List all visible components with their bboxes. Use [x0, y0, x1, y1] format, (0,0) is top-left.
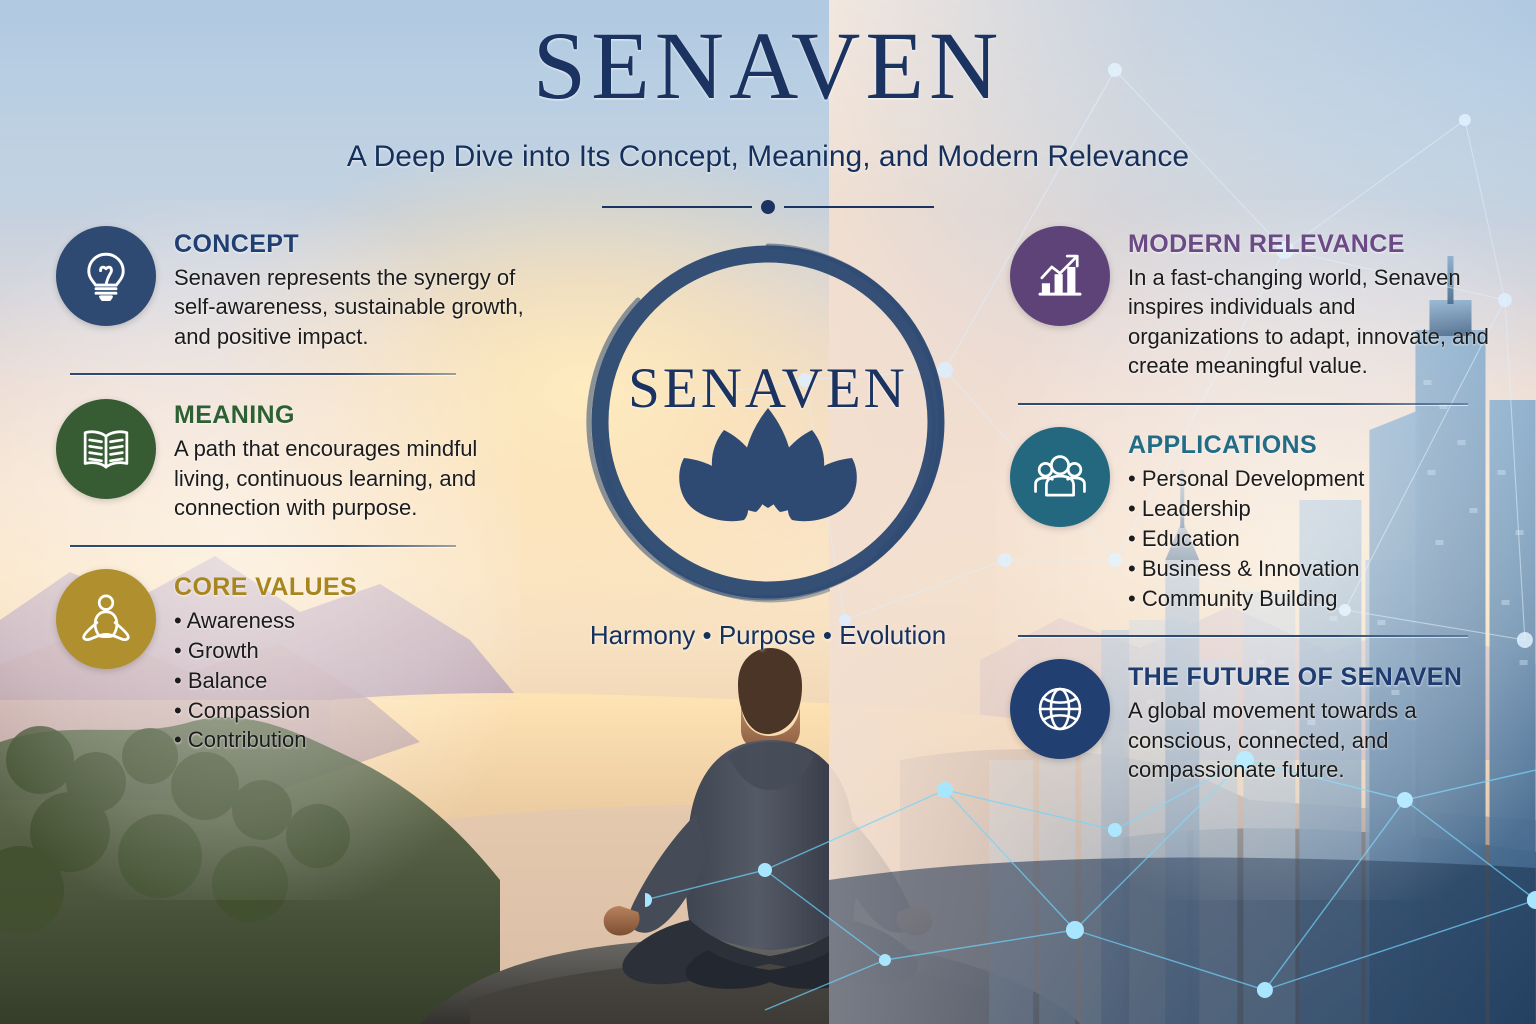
divider-line-right [784, 206, 934, 208]
page-title: SENAVEN [0, 16, 1536, 117]
list-item: Leadership [1128, 494, 1490, 524]
growth-chart-icon-circle [1010, 226, 1110, 326]
globe-icon [1031, 680, 1089, 738]
brand-emblem: SENAVEN Harmony • Purpose • Evolution [568, 232, 968, 651]
divider-line-left [602, 206, 752, 208]
divider-dot [761, 200, 775, 214]
left-divider-1 [70, 373, 456, 375]
applications-heading: APPLICATIONS [1128, 431, 1490, 460]
list-item: Personal Development [1128, 464, 1490, 494]
meditation-icon-circle [56, 569, 156, 669]
list-item: Contribution [174, 725, 526, 755]
section-core-values[interactable]: CORE VALUES AwarenessGrowthBalanceCompas… [56, 569, 526, 756]
right-column: MODERN RELEVANCE In a fast-changing worl… [1010, 226, 1490, 785]
future-body: A global movement towards a conscious, c… [1128, 696, 1490, 784]
concept-heading: CONCEPT [174, 230, 526, 259]
section-meaning[interactable]: MEANING A path that encourages mindful l… [56, 397, 526, 522]
right-divider-2 [1018, 635, 1468, 637]
list-item: Growth [174, 636, 526, 666]
open-book-icon-circle [56, 399, 156, 499]
emblem-tagline: Harmony • Purpose • Evolution [568, 620, 968, 651]
modern-relevance-body: In a fast-changing world, Senaven inspir… [1128, 263, 1490, 381]
lotus-icon [679, 408, 857, 521]
poster-content: SENAVEN A Deep Dive into Its Concept, Me… [0, 0, 1536, 1024]
list-item: Compassion [174, 696, 526, 726]
lightbulb-icon [77, 247, 135, 305]
section-future[interactable]: THE FUTURE OF SENAVEN A global movement … [1010, 659, 1490, 784]
applications-text-group: APPLICATIONS Personal DevelopmentLeaders… [1128, 427, 1490, 614]
core-values-list: AwarenessGrowthBalanceCompassionContribu… [174, 606, 526, 756]
left-column: CONCEPT Senaven represents the synergy o… [56, 226, 526, 755]
list-item: Education [1128, 524, 1490, 554]
applications-list: Personal DevelopmentLeadershipEducationB… [1128, 464, 1490, 614]
page-subtitle: A Deep Dive into Its Concept, Meaning, a… [0, 140, 1536, 174]
globe-icon-circle [1010, 659, 1110, 759]
list-item: Balance [174, 666, 526, 696]
section-concept[interactable]: CONCEPT Senaven represents the synergy o… [56, 226, 526, 351]
people-group-icon [1031, 448, 1089, 506]
header-divider [602, 200, 934, 214]
emblem-wordmark: SENAVEN [578, 356, 958, 421]
modern-relevance-text-group: MODERN RELEVANCE In a fast-changing worl… [1128, 226, 1490, 381]
brush-circle-and-lotus [578, 232, 958, 612]
lightbulb-icon-circle [56, 226, 156, 326]
meaning-text-group: MEANING A path that encourages mindful l… [174, 397, 526, 522]
left-divider-2 [70, 545, 456, 547]
people-group-icon-circle [1010, 427, 1110, 527]
meaning-body: A path that encourages mindful living, c… [174, 434, 526, 522]
list-item: Awareness [174, 606, 526, 636]
concept-text-group: CONCEPT Senaven represents the synergy o… [174, 226, 526, 351]
infographic-poster: SENAVEN A Deep Dive into Its Concept, Me… [0, 0, 1536, 1024]
core-values-text-group: CORE VALUES AwarenessGrowthBalanceCompas… [174, 569, 526, 756]
section-modern-relevance[interactable]: MODERN RELEVANCE In a fast-changing worl… [1010, 226, 1490, 381]
list-item: Community Building [1128, 584, 1490, 614]
future-text-group: THE FUTURE OF SENAVEN A global movement … [1128, 659, 1490, 784]
list-item: Business & Innovation [1128, 554, 1490, 584]
emblem-ring: SENAVEN [578, 232, 958, 612]
modern-relevance-heading: MODERN RELEVANCE [1128, 230, 1490, 259]
right-divider-1 [1018, 403, 1468, 405]
core-values-heading: CORE VALUES [174, 573, 526, 602]
concept-body: Senaven represents the synergy of self-a… [174, 263, 526, 351]
section-applications[interactable]: APPLICATIONS Personal DevelopmentLeaders… [1010, 427, 1490, 614]
future-heading: THE FUTURE OF SENAVEN [1128, 663, 1490, 692]
growth-chart-icon [1031, 247, 1089, 305]
open-book-icon [77, 420, 135, 478]
meaning-heading: MEANING [174, 401, 526, 430]
meditation-icon [77, 590, 135, 648]
